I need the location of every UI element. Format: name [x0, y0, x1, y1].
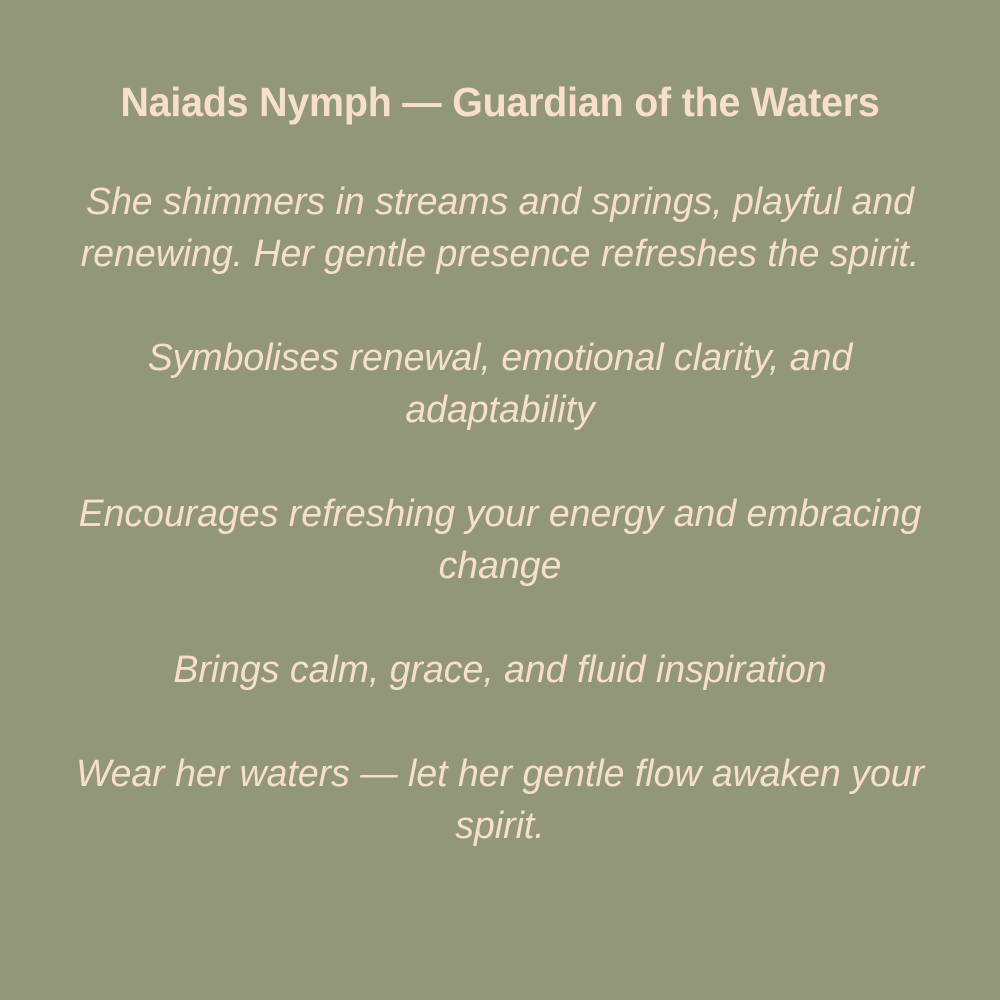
encouragement-paragraph: Encourages refreshing your energy and em… — [49, 488, 951, 592]
promo-card: Naiads Nymph — Guardian of the Waters Sh… — [0, 0, 1000, 1000]
closing-paragraph: Wear her waters — let her gentle flow aw… — [49, 748, 951, 852]
benefits-paragraph: Brings calm, grace, and fluid inspiratio… — [49, 644, 951, 696]
symbolism-paragraph: Symbolises renewal, emotional clarity, a… — [49, 332, 951, 436]
description-paragraph: She shimmers in streams and springs, pla… — [49, 176, 951, 280]
page-title: Naiads Nymph — Guardian of the Waters — [60, 78, 939, 126]
